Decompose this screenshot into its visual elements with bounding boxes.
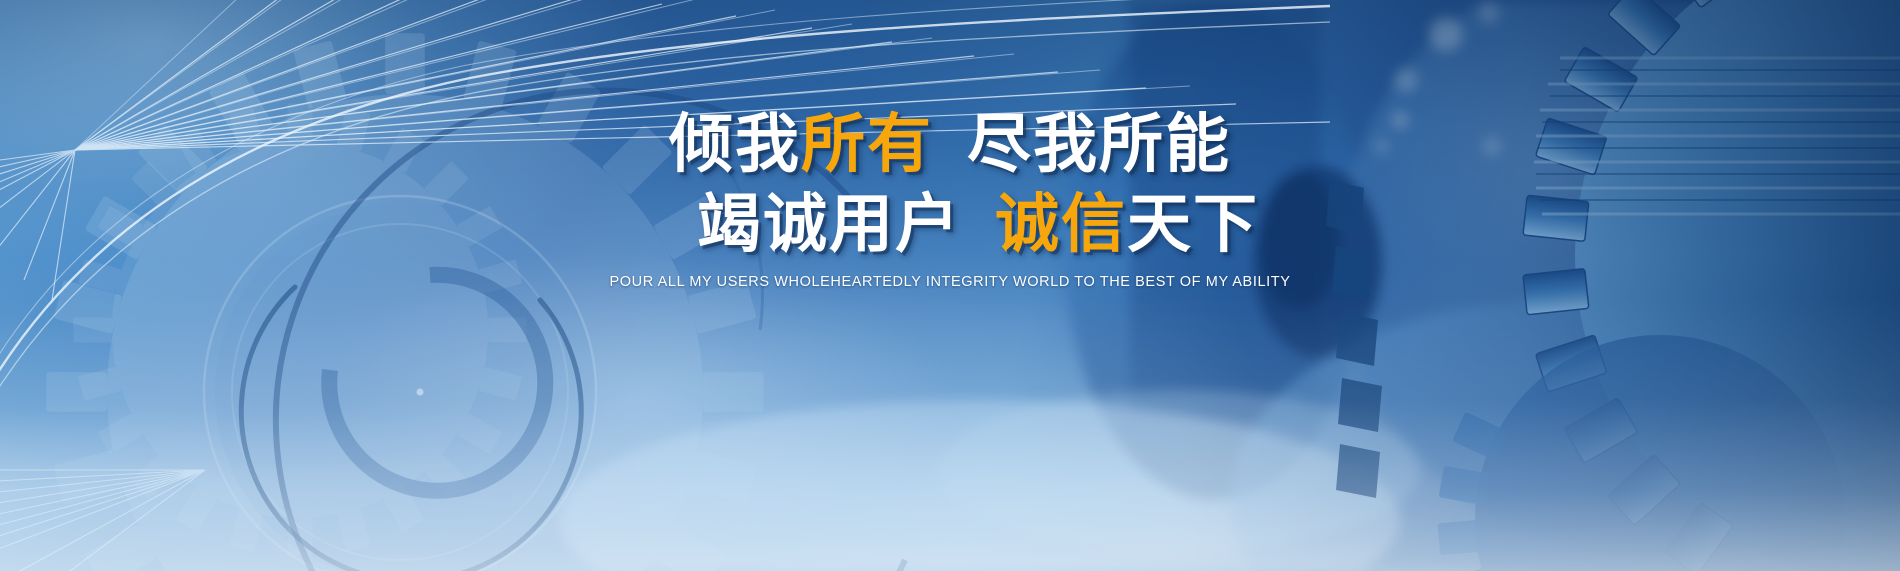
headline-seg-1a: 倾我	[669, 108, 801, 182]
headline-seg-2b: 诚信	[995, 188, 1127, 262]
banner-subtitle: POUR ALL MY USERS WHOLEHEARTEDLY INTEGRI…	[0, 274, 1900, 290]
banner-content: 倾我所有尽我所能 竭诚用户诚信天下 POUR ALL MY USERS WHOL…	[0, 0, 1900, 571]
headline-line-2: 竭诚用户诚信天下	[0, 188, 1900, 262]
headline-seg-2a: 竭诚用户	[697, 188, 961, 262]
headline-line-1: 倾我所有尽我所能	[0, 108, 1900, 182]
headline-seg-1b: 所有	[801, 108, 933, 182]
headline-block: 倾我所有尽我所能 竭诚用户诚信天下	[0, 108, 1900, 262]
headline-seg-2c: 天下	[1127, 188, 1259, 262]
headline-seg-1c: 尽我所能	[967, 108, 1231, 182]
hero-banner: 倾我所有尽我所能 竭诚用户诚信天下 POUR ALL MY USERS WHOL…	[0, 0, 1900, 571]
